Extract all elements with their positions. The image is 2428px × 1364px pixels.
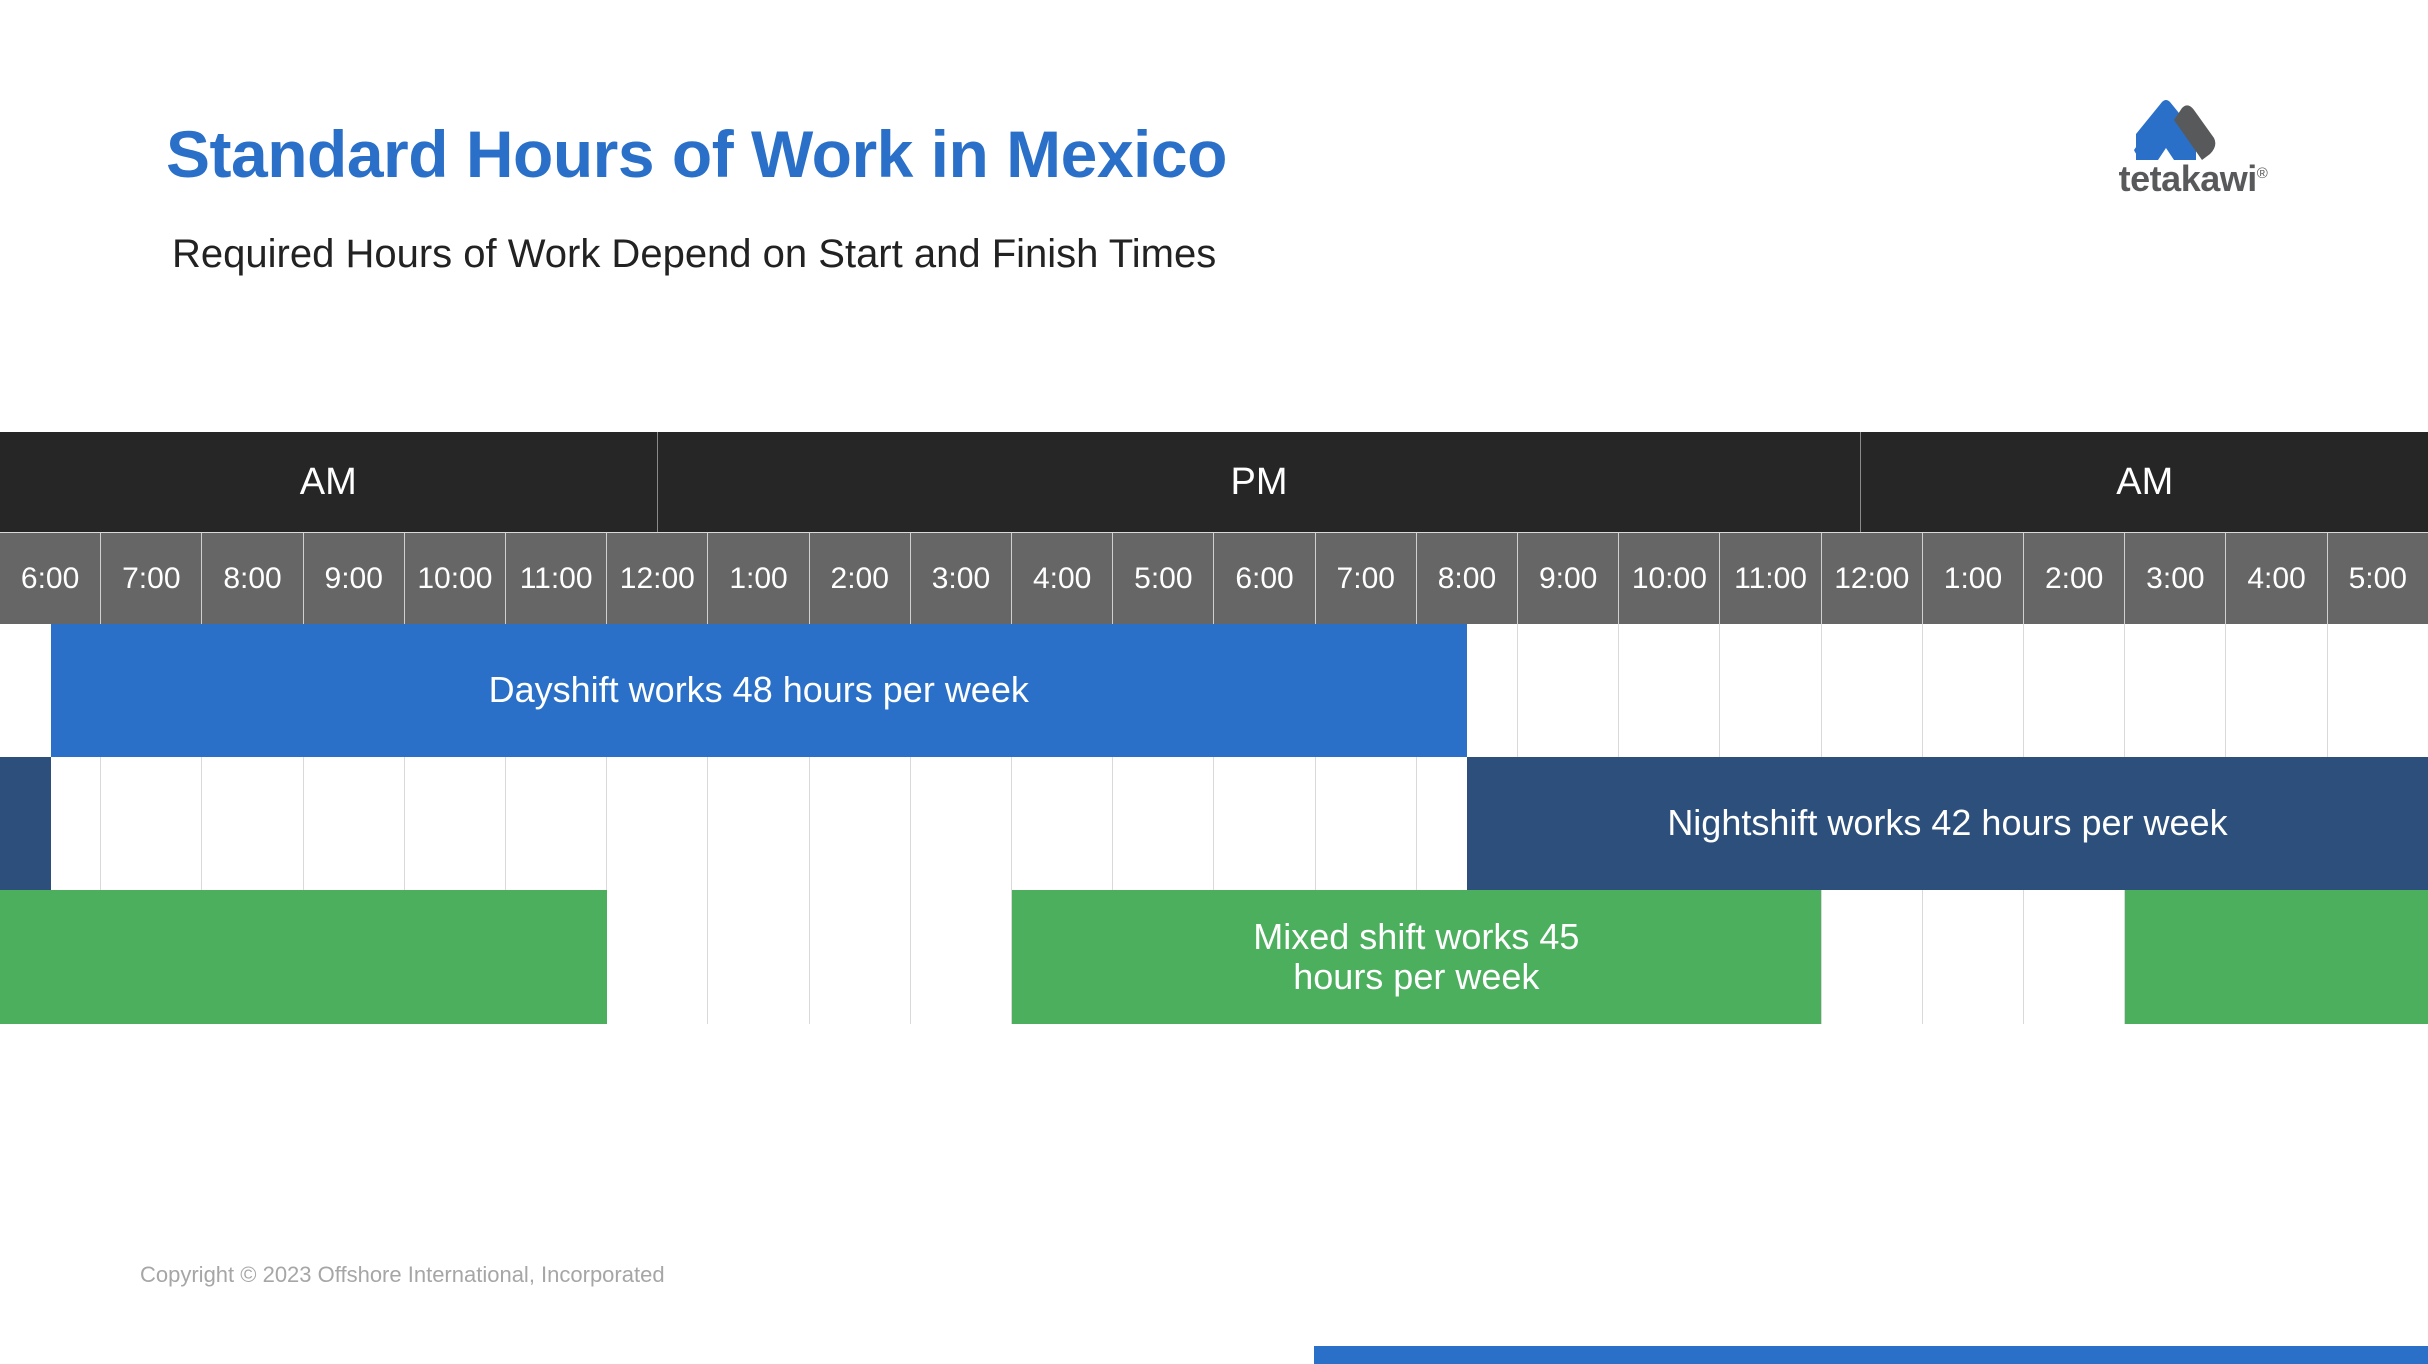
hour-label: 9:00: [325, 562, 383, 596]
logo-wordmark-text: tetakawi: [2119, 158, 2257, 199]
shift-bar-nightshift-0[interactable]: [0, 757, 51, 890]
hour-label: 8:00: [223, 562, 281, 596]
period-label: AM: [2116, 461, 2173, 504]
hour-cell-12: 6:00: [1214, 533, 1315, 624]
hour-label: 6:00: [1235, 562, 1293, 596]
hour-cell-20: 2:00: [2024, 533, 2125, 624]
shift-bar-label-mixed-shift: Mixed shift works 45 hours per week: [1243, 917, 1589, 998]
hour-cell-3: 9:00: [304, 533, 405, 624]
hour-label: 10:00: [417, 562, 492, 596]
hour-label: 8:00: [1438, 562, 1496, 596]
hour-cell-18: 12:00: [1822, 533, 1923, 624]
hour-label: 12:00: [1834, 562, 1909, 596]
hour-label: 7:00: [1337, 562, 1395, 596]
shift-bar-mixed-shift-1[interactable]: Mixed shift works 45 hours per week: [1012, 890, 1821, 1024]
shift-bar-nightshift-1[interactable]: Nightshift works 42 hours per week: [1467, 757, 2428, 890]
period-cell-am-2: AM: [1861, 432, 2428, 532]
hour-cell-6: 12:00: [607, 533, 708, 624]
hour-cell-5: 11:00: [506, 533, 607, 624]
hour-label: 1:00: [1944, 562, 2002, 596]
shift-bar-mixed-shift-2[interactable]: [2125, 890, 2428, 1024]
hour-label: 4:00: [2247, 562, 2305, 596]
period-label: PM: [1231, 461, 1288, 504]
hour-cell-1: 7:00: [101, 533, 202, 624]
hour-cell-21: 3:00: [2125, 533, 2226, 624]
hour-cell-15: 9:00: [1518, 533, 1619, 624]
period-header-row: AMPMAM: [0, 432, 2428, 532]
registered-mark-icon: ®: [2257, 165, 2268, 182]
shift-bar-label-dayshift: Dayshift works 48 hours per week: [479, 670, 1039, 710]
hour-label: 10:00: [1632, 562, 1707, 596]
slide: Standard Hours of Work in Mexico Require…: [0, 0, 2428, 1364]
shift-schedule-chart: AMPMAM 6:007:008:009:0010:0011:0012:001:…: [0, 432, 2428, 1024]
hour-cell-19: 1:00: [1923, 533, 2024, 624]
period-label: AM: [300, 461, 357, 504]
hour-cell-14: 8:00: [1417, 533, 1518, 624]
hour-cell-13: 7:00: [1316, 533, 1417, 624]
hour-label: 2:00: [831, 562, 889, 596]
hour-label: 12:00: [620, 562, 695, 596]
page-subtitle: Required Hours of Work Depend on Start a…: [172, 232, 1216, 277]
hour-label: 5:00: [2349, 562, 2407, 596]
hour-cell-0: 6:00: [0, 533, 101, 624]
hour-label: 6:00: [21, 562, 79, 596]
shift-bar-mixed-shift-0[interactable]: [0, 890, 607, 1024]
hour-cell-7: 1:00: [708, 533, 809, 624]
page-title: Standard Hours of Work in Mexico: [166, 116, 1227, 192]
hour-cell-10: 4:00: [1012, 533, 1113, 624]
logo-wordmark: tetakawi®: [2098, 158, 2288, 200]
hour-cell-8: 2:00: [810, 533, 911, 624]
hour-label: 5:00: [1134, 562, 1192, 596]
shift-row-dayshift: Dayshift works 48 hours per week: [0, 624, 2428, 757]
shift-bars-area: Dayshift works 48 hours per week Nightsh…: [0, 624, 2428, 1024]
shift-bar-label-nightshift: Nightshift works 42 hours per week: [1657, 803, 2237, 843]
shift-row-mixed: Mixed shift works 45 hours per week: [0, 890, 2428, 1024]
hour-label: 3:00: [932, 562, 990, 596]
copyright-text: Copyright © 2023 Offshore International,…: [140, 1262, 665, 1288]
hour-label: 2:00: [2045, 562, 2103, 596]
hour-cell-17: 11:00: [1720, 533, 1821, 624]
hour-label: 3:00: [2146, 562, 2204, 596]
hour-cell-2: 8:00: [202, 533, 303, 624]
hour-label: 11:00: [1734, 562, 1807, 596]
hour-cell-11: 5:00: [1113, 533, 1214, 624]
hour-cell-23: 5:00: [2328, 533, 2428, 624]
tetakawi-logo: tetakawi®: [2098, 96, 2288, 206]
hour-label-row: 6:007:008:009:0010:0011:0012:001:002:003…: [0, 532, 2428, 624]
hour-label: 4:00: [1033, 562, 1091, 596]
shift-bar-dayshift-0[interactable]: Dayshift works 48 hours per week: [51, 624, 1467, 757]
hour-cell-16: 10:00: [1619, 533, 1720, 624]
shift-row-nightshift: Nightshift works 42 hours per week: [0, 757, 2428, 890]
logo-mark-icon: [2098, 96, 2288, 164]
period-cell-pm-1: PM: [658, 432, 1862, 532]
hour-label: 1:00: [729, 562, 787, 596]
hour-cell-9: 3:00: [911, 533, 1012, 624]
hour-label: 11:00: [520, 562, 593, 596]
bottom-accent-bar: [1314, 1346, 2428, 1364]
hour-cell-4: 10:00: [405, 533, 506, 624]
hour-label: 7:00: [122, 562, 180, 596]
hour-cell-22: 4:00: [2226, 533, 2327, 624]
period-cell-am-0: AM: [0, 432, 658, 532]
hour-label: 9:00: [1539, 562, 1597, 596]
